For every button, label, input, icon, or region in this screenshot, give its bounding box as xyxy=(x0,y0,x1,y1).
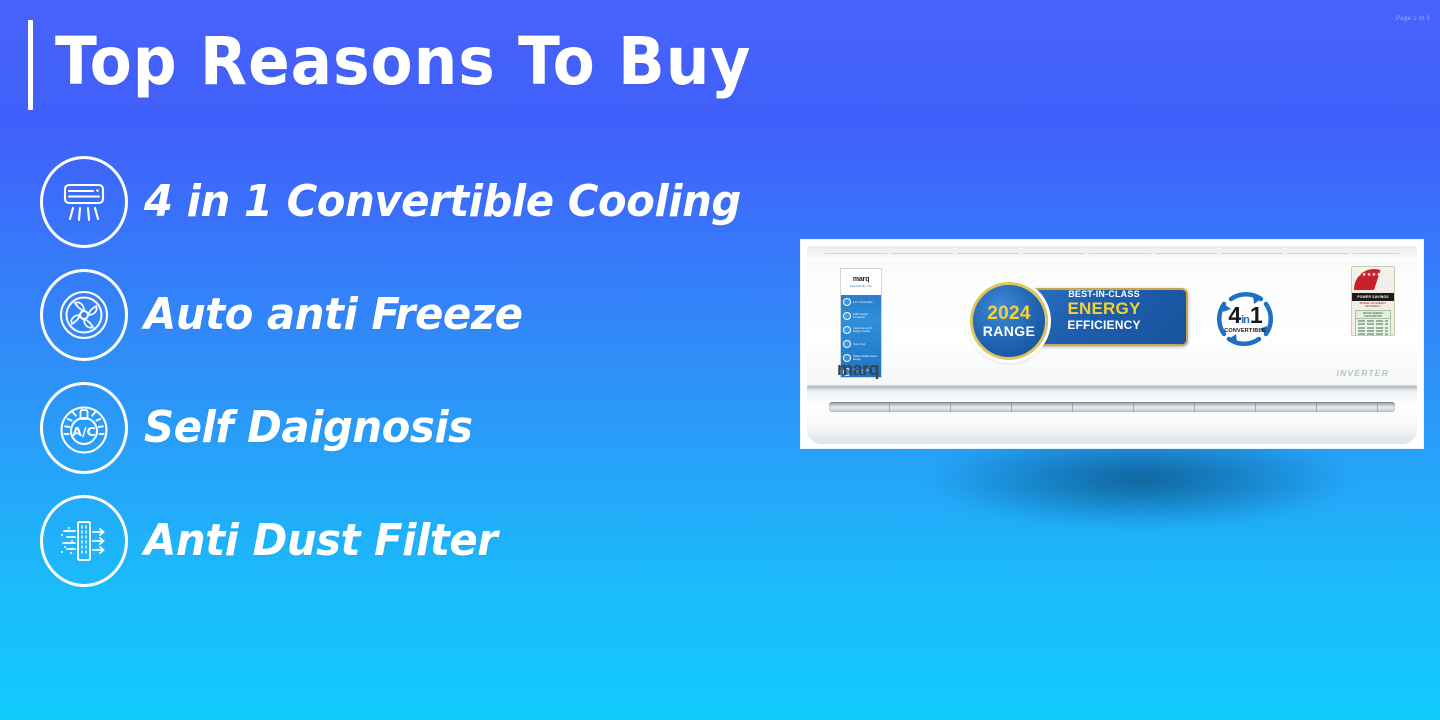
ac-top-grille xyxy=(807,246,1417,262)
page-title-block: Top Reasons To Buy xyxy=(28,18,804,110)
badge-line-efficiency: EFFICIENCY xyxy=(1046,319,1162,331)
page-title: Top Reasons To Buy xyxy=(55,18,751,110)
sticker-row: Cools even at 52 Degree Celsius xyxy=(841,323,881,337)
dust-filter-icon xyxy=(40,495,128,587)
page-corner-label: Page 1 of 3 xyxy=(1396,16,1430,22)
convertible-joiner: in xyxy=(1241,315,1249,326)
product-brand-logo: marq xyxy=(837,359,879,380)
badge-year-seal: 2024 RANGE xyxy=(970,282,1048,360)
bee-table-row xyxy=(1358,327,1388,329)
product-image-air-conditioner[interactable]: marq Inspired By You 4 In 1 Convertible … xyxy=(801,240,1423,448)
sticker-row-label: Turbo Cool xyxy=(853,343,865,346)
bee-authority-text: BUREAU OF ENERGY EFFICIENCY xyxy=(1352,302,1394,308)
convertible-count: 1 xyxy=(1250,304,1262,327)
sticker-header: marq Inspired By You xyxy=(841,269,881,295)
bee-stars: ★★★★★ xyxy=(1357,272,1379,278)
convertible-text: 4 in 1 CONVERTIBLE xyxy=(1209,284,1281,354)
product-inverter-label: INVERTER xyxy=(1337,368,1389,378)
feature-label: Self Daignosis xyxy=(144,402,473,453)
feature-list: 4 in 1 Convertible Cooling Auto anti Fre… xyxy=(40,145,760,597)
sticker-row: 4 In 1 Convertible xyxy=(841,295,881,309)
badge-range-word: RANGE xyxy=(983,324,1036,338)
sticker-row-label: Cools even at 52 Degree Celsius xyxy=(853,327,879,333)
feature-label: Auto anti Freeze xyxy=(144,289,523,340)
convertible-ratio: 4 in 1 xyxy=(1228,304,1261,327)
feature-item-auto-anti-freeze[interactable]: Auto anti Freeze xyxy=(40,258,760,371)
sticker-row: 100% Copper Condenser xyxy=(841,309,881,323)
sticker-row-icon xyxy=(843,340,851,348)
bee-table-header: ANNUAL ENERGY CONSUMPTION xyxy=(1356,311,1390,319)
bee-data-table: ANNUAL ENERGY CONSUMPTION xyxy=(1355,310,1391,336)
badge-year: 2024 xyxy=(987,304,1030,323)
convertible-4in1-mark: 4 in 1 CONVERTIBLE xyxy=(1209,284,1281,354)
badge-plate-text: BEST-IN-CLASS ENERGY EFFICIENCY xyxy=(1046,290,1162,331)
badge-line-energy: ENERGY xyxy=(1046,300,1162,317)
sticker-tagline: Inspired By You xyxy=(850,285,872,288)
feature-item-anti-dust-filter[interactable]: Anti Dust Filter xyxy=(40,484,760,597)
bee-star-dial: ★★★★★ xyxy=(1352,267,1394,293)
energy-efficiency-badge: BEST-IN-CLASS ENERGY EFFICIENCY 2024 RAN… xyxy=(970,282,1188,352)
sticker-row-label: 4 In 1 Convertible xyxy=(853,301,873,304)
convertible-caption: CONVERTIBLE xyxy=(1224,329,1266,335)
ac-air-outlet xyxy=(829,402,1395,412)
title-accent-bar xyxy=(28,20,33,110)
convertible-number: 4 xyxy=(1228,304,1240,327)
bee-power-savings-band: POWER SAVINGS xyxy=(1352,293,1394,301)
sticker-row-icon xyxy=(843,312,851,320)
bee-table-row xyxy=(1358,333,1388,335)
ac-gauge-icon: A/C xyxy=(40,382,128,474)
fan-blower-icon xyxy=(40,269,128,361)
feature-item-convertible-cooling[interactable]: 4 in 1 Convertible Cooling xyxy=(40,145,760,258)
sticker-row-label: 100% Copper Condenser xyxy=(853,313,879,319)
ac-louver-panel xyxy=(807,388,1417,444)
sticker-row-icon xyxy=(843,298,851,306)
svg-text:A/C: A/C xyxy=(72,424,95,439)
feature-label: Anti Dust Filter xyxy=(144,515,497,566)
bee-table-row xyxy=(1358,323,1388,325)
bee-table-row xyxy=(1358,320,1388,322)
feature-label: 4 in 1 Convertible Cooling xyxy=(144,176,741,227)
sticker-row-icon xyxy=(843,326,851,334)
bee-table-row xyxy=(1358,330,1388,332)
badge-line-best-in-class: BEST-IN-CLASS xyxy=(1046,290,1162,299)
sticker-brand-logo: marq xyxy=(853,276,869,283)
feature-item-self-diagnosis[interactable]: A/C Self Daignosis xyxy=(40,371,760,484)
bee-energy-rating-label: ★★★★★ POWER SAVINGS BUREAU OF ENERGY EFF… xyxy=(1351,266,1395,336)
sticker-row: Turbo Cool xyxy=(841,337,881,351)
air-conditioner-icon xyxy=(40,156,128,248)
ac-unit-body: marq Inspired By You 4 In 1 Convertible … xyxy=(807,246,1417,444)
